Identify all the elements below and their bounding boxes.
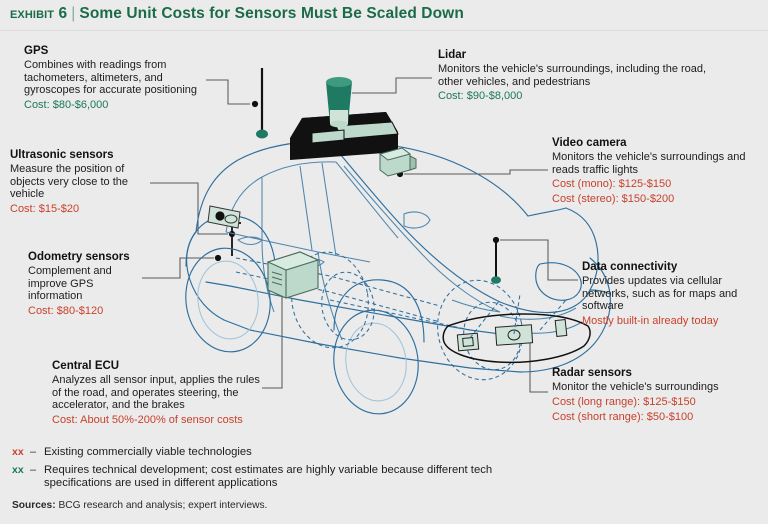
- annotation-data-connectivity-desc: Provides updates via cellular networks, …: [582, 275, 768, 313]
- annotation-lidar: Lidar Monitors the vehicle's surrounding…: [438, 48, 726, 103]
- side-mirror-camera: [208, 206, 240, 228]
- annotation-gps-desc: Combines with readings from tachometers,…: [24, 59, 214, 97]
- legend-text-requires-development: Requires technical development; cost est…: [44, 464, 532, 490]
- central-ecu-unit: [268, 252, 318, 298]
- annotation-data-connectivity-heading: Data connectivity: [582, 260, 768, 274]
- annotation-lidar-heading: Lidar: [438, 48, 726, 62]
- legend-dash-1: –: [30, 464, 44, 476]
- annotation-gps: GPS Combines with readings from tachomet…: [24, 44, 214, 112]
- annotation-ultrasonic-cost: Cost: $15-$20: [10, 203, 150, 216]
- title-divider: |: [67, 5, 79, 22]
- annotation-central-ecu-cost: Cost: About 50%-200% of sensor costs: [52, 414, 264, 427]
- title-text: Some Unit Costs for Sensors Must Be Scal…: [79, 5, 464, 22]
- sensor-field-ellipses: [236, 246, 531, 388]
- annotation-ultrasonic: Ultrasonic sensors Measure the position …: [10, 148, 150, 216]
- annotation-ultrasonic-desc: Measure the position of objects very clo…: [10, 163, 150, 201]
- annotation-odometry-cost: Cost: $80-$120: [28, 305, 146, 318]
- annotation-ultrasonic-heading: Ultrasonic sensors: [10, 148, 150, 162]
- annotation-odometry-heading: Odometry sensors: [28, 250, 146, 264]
- legend-marker-green: xx: [12, 464, 30, 476]
- annotation-radar-heading: Radar sensors: [552, 366, 766, 380]
- annotation-lidar-desc: Monitors the vehicle's surroundings, inc…: [438, 63, 726, 88]
- legend-text-existing: Existing commercially viable technologie…: [44, 446, 252, 459]
- legend: xx – Existing commercially viable techno…: [12, 446, 532, 495]
- legend-marker-red: xx: [12, 446, 30, 458]
- annotation-radar-cost-short: Cost (short range): $50-$100: [552, 411, 766, 424]
- video-camera-unit: [380, 148, 416, 176]
- annotation-radar-desc: Monitor the vehicle's surroundings: [552, 381, 766, 394]
- sources-text: BCG research and analysis; expert interv…: [58, 500, 267, 511]
- page-title: Exhibit 6|Some Unit Costs for Sensors Mu…: [10, 5, 464, 23]
- annotation-video-camera-desc: Monitors the vehicle's surroundings and …: [552, 151, 768, 176]
- annotation-video-camera-cost-stereo: Cost (stereo): $150-$200: [552, 193, 768, 206]
- legend-row-existing: xx – Existing commercially viable techno…: [12, 446, 532, 459]
- annotation-central-ecu: Central ECU Analyzes all sensor input, a…: [52, 359, 264, 427]
- exhibit-label: Exhibit 6: [10, 5, 67, 22]
- annotation-video-camera: Video camera Monitors the vehicle's surr…: [552, 136, 768, 207]
- annotation-odometry: Odometry sensors Complement and improve …: [28, 250, 146, 318]
- annotation-data-connectivity-cost: Mostly built-in already today: [582, 315, 768, 328]
- annotation-central-ecu-heading: Central ECU: [52, 359, 264, 373]
- annotation-odometry-desc: Complement and improve GPS information: [28, 265, 146, 303]
- roof-module: [290, 112, 398, 160]
- annotation-radar-cost-long: Cost (long range): $125-$150: [552, 396, 766, 409]
- annotation-video-camera-heading: Video camera: [552, 136, 768, 150]
- exhibit-header: Exhibit 6|Some Unit Costs for Sensors Mu…: [0, 0, 768, 31]
- annotation-gps-heading: GPS: [24, 44, 214, 58]
- legend-row-requires-development: xx – Requires technical development; cos…: [12, 464, 532, 490]
- legend-dash-0: –: [30, 446, 44, 458]
- sources-label: Sources:: [12, 500, 56, 511]
- annotation-data-connectivity: Data connectivity Provides updates via c…: [582, 260, 768, 328]
- leader-lines: [142, 68, 578, 392]
- sources-line: Sources: BCG research and analysis; expe…: [12, 500, 267, 511]
- lidar-unit: [326, 77, 352, 127]
- header-divider: [0, 30, 768, 31]
- annotation-gps-cost: Cost: $80-$6,000: [24, 99, 214, 112]
- front-bumper-radar: [443, 294, 590, 362]
- annotation-video-camera-cost-mono: Cost (mono): $125-$150: [552, 178, 768, 191]
- annotation-lidar-cost: Cost: $90-$8,000: [438, 90, 726, 103]
- annotation-central-ecu-desc: Analyzes all sensor input, applies the r…: [52, 374, 264, 412]
- annotation-radar: Radar sensors Monitor the vehicle's surr…: [552, 366, 766, 424]
